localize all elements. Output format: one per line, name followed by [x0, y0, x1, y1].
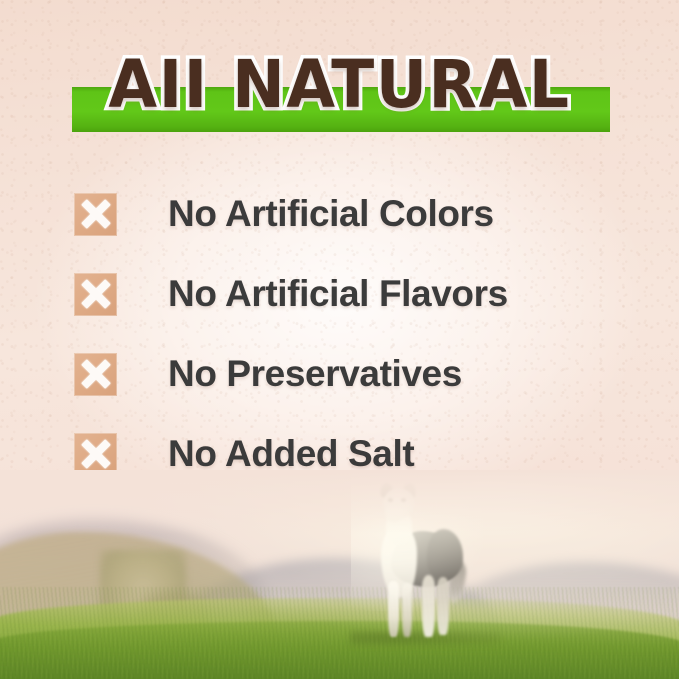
list-item-label: No Artificial Colors — [168, 194, 494, 234]
dog-hind-leg-right — [437, 577, 449, 635]
list-item-label: No Preservatives — [168, 354, 462, 394]
all-natural-product-graphic: AII NATURAL No Artificial Colors No Arti… — [0, 0, 679, 679]
banner-title-zone: AII NATURAL — [0, 44, 679, 142]
dog-eye-left — [388, 498, 393, 502]
grass-texture-overlay — [0, 587, 679, 679]
dog-front-leg-left — [388, 581, 399, 637]
dog-front-leg-right — [402, 583, 412, 637]
dog-hind-leg-left — [422, 575, 435, 637]
x-mark-icon — [74, 273, 117, 316]
border-collie-dog — [365, 483, 469, 641]
list-item-label: No Added Salt — [168, 434, 414, 474]
list-item-label: No Artificial Flavors — [168, 274, 508, 314]
dog-rump — [427, 529, 463, 579]
landscape-photo — [0, 470, 679, 679]
claims-list: No Artificial Colors No Artificial Flavo… — [74, 174, 634, 494]
list-item: No Preservatives — [74, 334, 634, 414]
list-item: No Artificial Flavors — [74, 254, 634, 334]
dog-eye-right — [401, 498, 406, 502]
list-item: No Artificial Colors — [74, 174, 634, 254]
x-mark-icon — [74, 193, 117, 236]
page-title: AII NATURAL — [0, 44, 679, 126]
x-mark-icon — [74, 353, 117, 396]
